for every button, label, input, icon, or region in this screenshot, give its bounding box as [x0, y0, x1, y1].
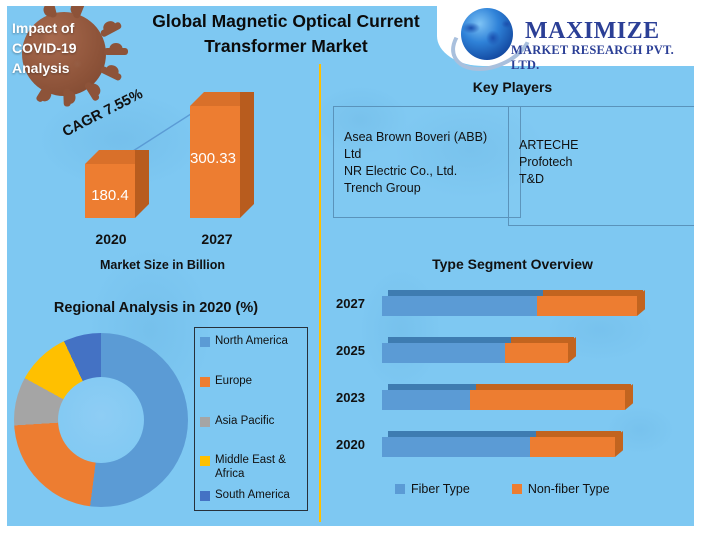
segment-front-face: [382, 390, 470, 410]
bar-value-2027: 300.33: [185, 150, 241, 167]
type-segment-legend: Fiber TypeNon-fiber Type: [395, 482, 610, 496]
segment-front-face: [382, 296, 537, 316]
stacked-bar-segment: [470, 384, 625, 410]
logo-tagline: MARKET RESEARCH PVT. LTD.: [511, 43, 701, 73]
bar-2020: [85, 150, 149, 218]
company-logo: MAXIMIZE MARKET RESEARCH PVT. LTD.: [437, 0, 701, 66]
bar-category-2020: 2020: [76, 231, 146, 247]
legend-swatch: [200, 491, 210, 501]
stacked-bar-category: 2023: [336, 390, 382, 405]
stacked-bar-category: 2025: [336, 343, 382, 358]
segment-front-face: [530, 437, 615, 457]
virus-spike: [104, 48, 128, 55]
bar-chart-xlabel: Market Size in Billion: [60, 258, 265, 272]
stacked-bar-segment: [382, 431, 530, 457]
bar-side-face: [240, 92, 254, 218]
donut-legend-item: South America: [195, 488, 295, 502]
segment-front-face: [382, 437, 530, 457]
legend-swatch: [200, 337, 210, 347]
page-title-line-1: Global Magnetic Optical Current: [136, 9, 436, 34]
legend-swatch: [200, 456, 210, 466]
key-player-item: Profotech: [519, 154, 696, 171]
stacked-legend-item: Non-fiber Type: [512, 482, 610, 496]
key-player-item: T&D: [519, 171, 696, 188]
stacked-bar-segment: [530, 431, 615, 457]
border-left: [0, 0, 7, 548]
stacked-bar-segment: [382, 290, 537, 316]
page-title: Global Magnetic Optical Current Transfor…: [136, 9, 436, 59]
legend-swatch: [512, 484, 522, 494]
legend-label: South America: [215, 488, 290, 502]
segment-front-face: [537, 296, 637, 316]
legend-swatch: [200, 377, 210, 387]
donut-legend-item: Middle East & Africa: [195, 453, 307, 481]
key-players-box-right: ARTECHE Profotech T&D: [508, 106, 701, 226]
donut-hole: [58, 377, 144, 463]
border-right: [694, 0, 701, 548]
border-bottom: [0, 526, 701, 548]
covid-impact-badge: Impact of COVID-19 Analysis: [4, 4, 130, 108]
bar-side-face: [135, 150, 149, 218]
legend-label: North America: [215, 334, 288, 348]
donut-legend-item: Asia Pacific: [195, 414, 279, 428]
covid-line-2: COVID-19: [12, 38, 107, 58]
virus-spike: [84, 81, 101, 102]
key-players-box-left: Asea Brown Boveri (ABB) Ltd NR Electric …: [333, 106, 521, 218]
vertical-divider: [319, 64, 321, 522]
key-player-item: ARTECHE: [519, 137, 696, 154]
legend-swatch: [200, 417, 210, 427]
stacked-bar-category: 2027: [336, 296, 382, 311]
key-player-item: Ltd: [344, 146, 510, 163]
segment-front-face: [470, 390, 625, 410]
bar-category-2027: 2027: [182, 231, 252, 247]
stacked-bar-category: 2020: [336, 437, 382, 452]
type-segment-title: Type Segment Overview: [330, 256, 695, 272]
key-player-item: Asea Brown Boveri (ABB): [344, 129, 510, 146]
stacked-bar-segment: [505, 337, 568, 363]
stacked-bar-segment: [537, 290, 637, 316]
page-title-line-2: Transformer Market: [136, 34, 436, 59]
legend-label: Middle East & Africa: [215, 453, 302, 481]
key-player-item: NR Electric Co., Ltd.: [344, 163, 510, 180]
stacked-legend-item: Fiber Type: [395, 482, 470, 496]
covid-line-3: Analysis: [12, 58, 107, 78]
legend-label: Europe: [215, 374, 252, 388]
legend-label: Fiber Type: [411, 482, 470, 496]
segment-front-face: [382, 343, 505, 363]
legend-label: Non-fiber Type: [528, 482, 610, 496]
virus-spike: [63, 88, 71, 106]
border-top: [0, 0, 701, 6]
donut-legend-item: North America: [195, 334, 293, 348]
donut-legend: North AmericaEuropeAsia PacificMiddle Ea…: [194, 327, 308, 511]
donut-chart-title: Regional Analysis in 2020 (%): [16, 300, 296, 316]
segment-front-face: [505, 343, 568, 363]
bar-value-2020: 180.4: [82, 187, 138, 204]
key-players-heading: Key Players: [330, 79, 695, 95]
legend-label: Asia Pacific: [215, 414, 274, 428]
logo-name: MAXIMIZE: [525, 18, 660, 45]
stacked-bar-segment: [382, 337, 505, 363]
key-player-item: Trench Group: [344, 180, 510, 197]
covid-line-1: Impact of: [12, 18, 107, 38]
infographic-canvas: Impact of COVID-19 Analysis Global Magne…: [0, 0, 701, 548]
donut-legend-item: Europe: [195, 374, 257, 388]
covid-badge-text: Impact of COVID-19 Analysis: [12, 18, 107, 78]
legend-swatch: [395, 484, 405, 494]
stacked-bar-segment: [382, 384, 470, 410]
